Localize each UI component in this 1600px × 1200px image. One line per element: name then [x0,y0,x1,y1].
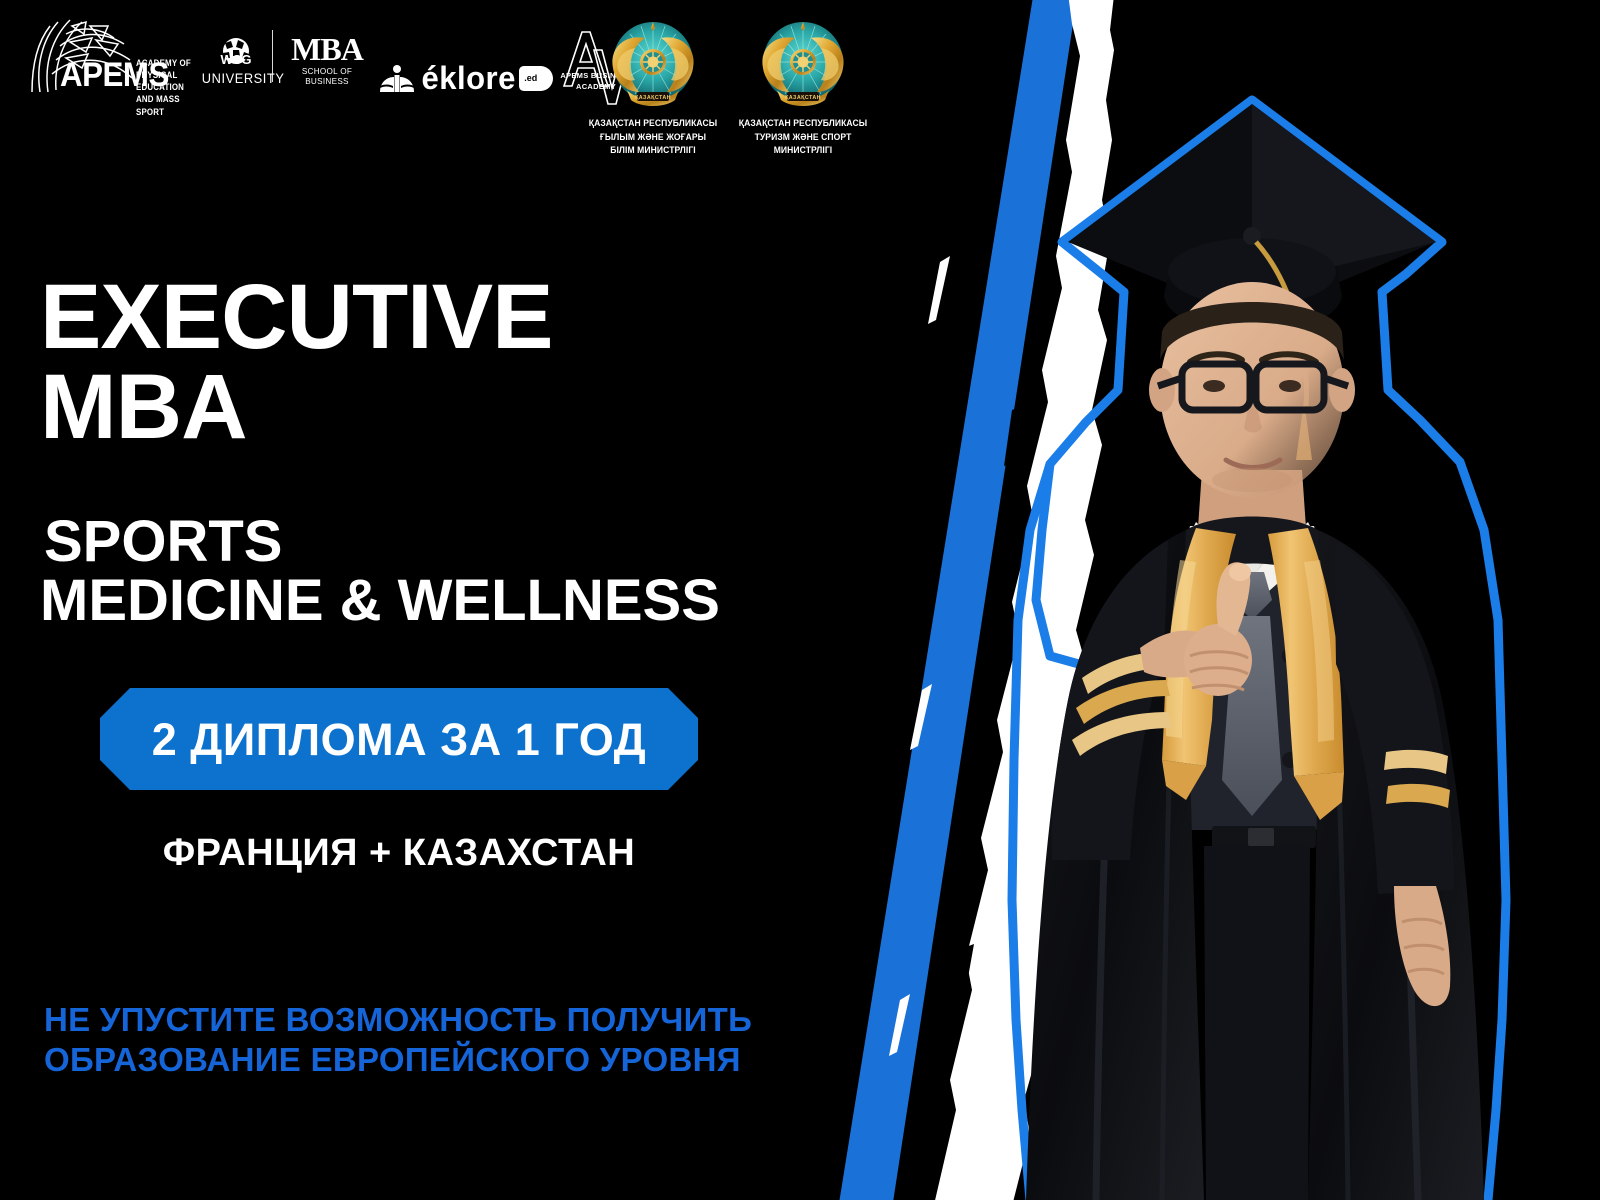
eklore-badge: .ed [519,66,553,91]
divider-brush-sliver-2 [910,684,932,750]
apems-subtitle-line-2: PHYSICAL EDUCATION [136,69,201,93]
ministry-science-caption-line-3: БІЛІМ МИНИСТРЛІГІ [572,144,734,158]
mba-subtitle: SCHOOL OF BUSINESS [284,66,370,86]
eklore-sprout-icon [378,64,416,92]
status-badge: 2 ДИПЛОМА ЗА 1 ГОД [100,688,698,790]
apems-subtitle: ACADEMY OF PHYSICAL EDUCATION AND MASS S… [136,57,201,118]
countries-label: ФРАНЦИЯ + КАЗАХСТАН [100,832,698,875]
logo-bar: APEMS ACADEMY OF PHYSICAL EDUCATION AND … [0,0,960,180]
subheadline-line-2: MEDICINE & WELLNESS [40,571,804,630]
tagline-line-2: ОБРАЗОВАНИЕ ЕВРОПЕЙСКОГО УРОВНЯ [44,1040,764,1080]
svg-text:ҚАЗАҚСТАН: ҚАЗАҚСТАН [785,95,821,101]
kazakhstan-state-emblem-icon: ҚАЗАҚСТАН [605,18,701,114]
ministry-sport-caption-line-2: ТУРИЗМ ЖӘНЕ СПОРТ [722,131,884,145]
ministry-science-emblem-block: ҚАЗАҚСТАН ҚАЗАҚСТАН РЕСПУБЛИКАСЫ ҒЫЛЫМ Ж… [568,18,738,158]
page-title: EXECUTIVE MBA [40,272,780,452]
kazakhstan-state-emblem-icon: ҚАЗАҚСТАН [755,18,851,114]
eklore-wordmark: éklore [421,62,515,94]
wsg-subtitle: UNIVERSITY [202,71,270,86]
divider-brush-sliver-1 [928,256,950,324]
svg-text:ҚАЗАҚСТАН: ҚАЗАҚСТАН [635,95,671,101]
svg-text:WSG: WSG [220,52,251,67]
divider-notch-3 [950,944,974,1006]
mba-wordmark: MBA [282,34,372,64]
badge-label: 2 ДИПЛОМА ЗА 1 ГОД [152,717,646,762]
globe-icon: WSG [216,36,256,70]
headline-line-1: EXECUTIVE [40,266,552,368]
ministry-sport-caption-line-3: МИНИСТРЛІГІ [722,144,884,158]
tagline-line-1: НЕ УПУСТИТЕ ВОЗМОЖНОСТЬ ПОЛУЧИТЬ [44,1001,752,1038]
divider-brush-sliver-3 [889,994,910,1056]
ministry-sport-caption-line-1: ҚАЗАҚСТАН РЕСПУБЛИКАСЫ [722,117,884,131]
ministry-science-caption-line-1: ҚАЗАҚСТАН РЕСПУБЛИКАСЫ [572,117,734,131]
logo-apems[interactable]: APEMS ACADEMY OF PHYSICAL EDUCATION AND … [10,14,210,104]
headline-line-2: MBA [40,362,780,452]
logo-mba-school-of-business[interactable]: MBA SCHOOL OF BUSINESS [282,34,372,86]
graduate-photo [990,60,1550,1200]
apems-subtitle-line-3: AND MASS SPORT [136,93,201,117]
ministry-science-caption-line-2: ҒЫЛЫМ ЖӘНЕ ЖОҒАРЫ [572,131,734,145]
tagline: НЕ УПУСТИТЕ ВОЗМОЖНОСТЬ ПОЛУЧИТЬ ОБРАЗОВ… [44,1000,764,1081]
program-subtitle: SPORTS MEDICINE & WELLNESS [44,512,804,630]
logo-divider [272,30,273,82]
logo-wsg-university[interactable]: WSG UNIVERSITY [200,36,272,86]
ministry-sport-caption: ҚАЗАҚСТАН РЕСПУБЛИКАСЫ ТУРИЗМ ЖӘНЕ СПОРТ… [722,117,884,158]
subheadline-line-1: SPORTS [44,509,283,574]
ministry-science-caption: ҚАЗАҚСТАН РЕСПУБЛИКАСЫ ҒЫЛЫМ ЖӘНЕ ЖОҒАРЫ… [572,117,734,158]
poster-canvas: APEMS ACADEMY OF PHYSICAL EDUCATION AND … [0,0,1600,1200]
logo-eklore[interactable]: éklore .ed [378,58,553,98]
apems-subtitle-line-1: ACADEMY OF [136,57,201,69]
ministry-sport-emblem-block: ҚАЗАҚСТАН ҚАЗАҚСТАН РЕСПУБЛИКАСЫ ТУРИЗМ … [718,18,888,158]
